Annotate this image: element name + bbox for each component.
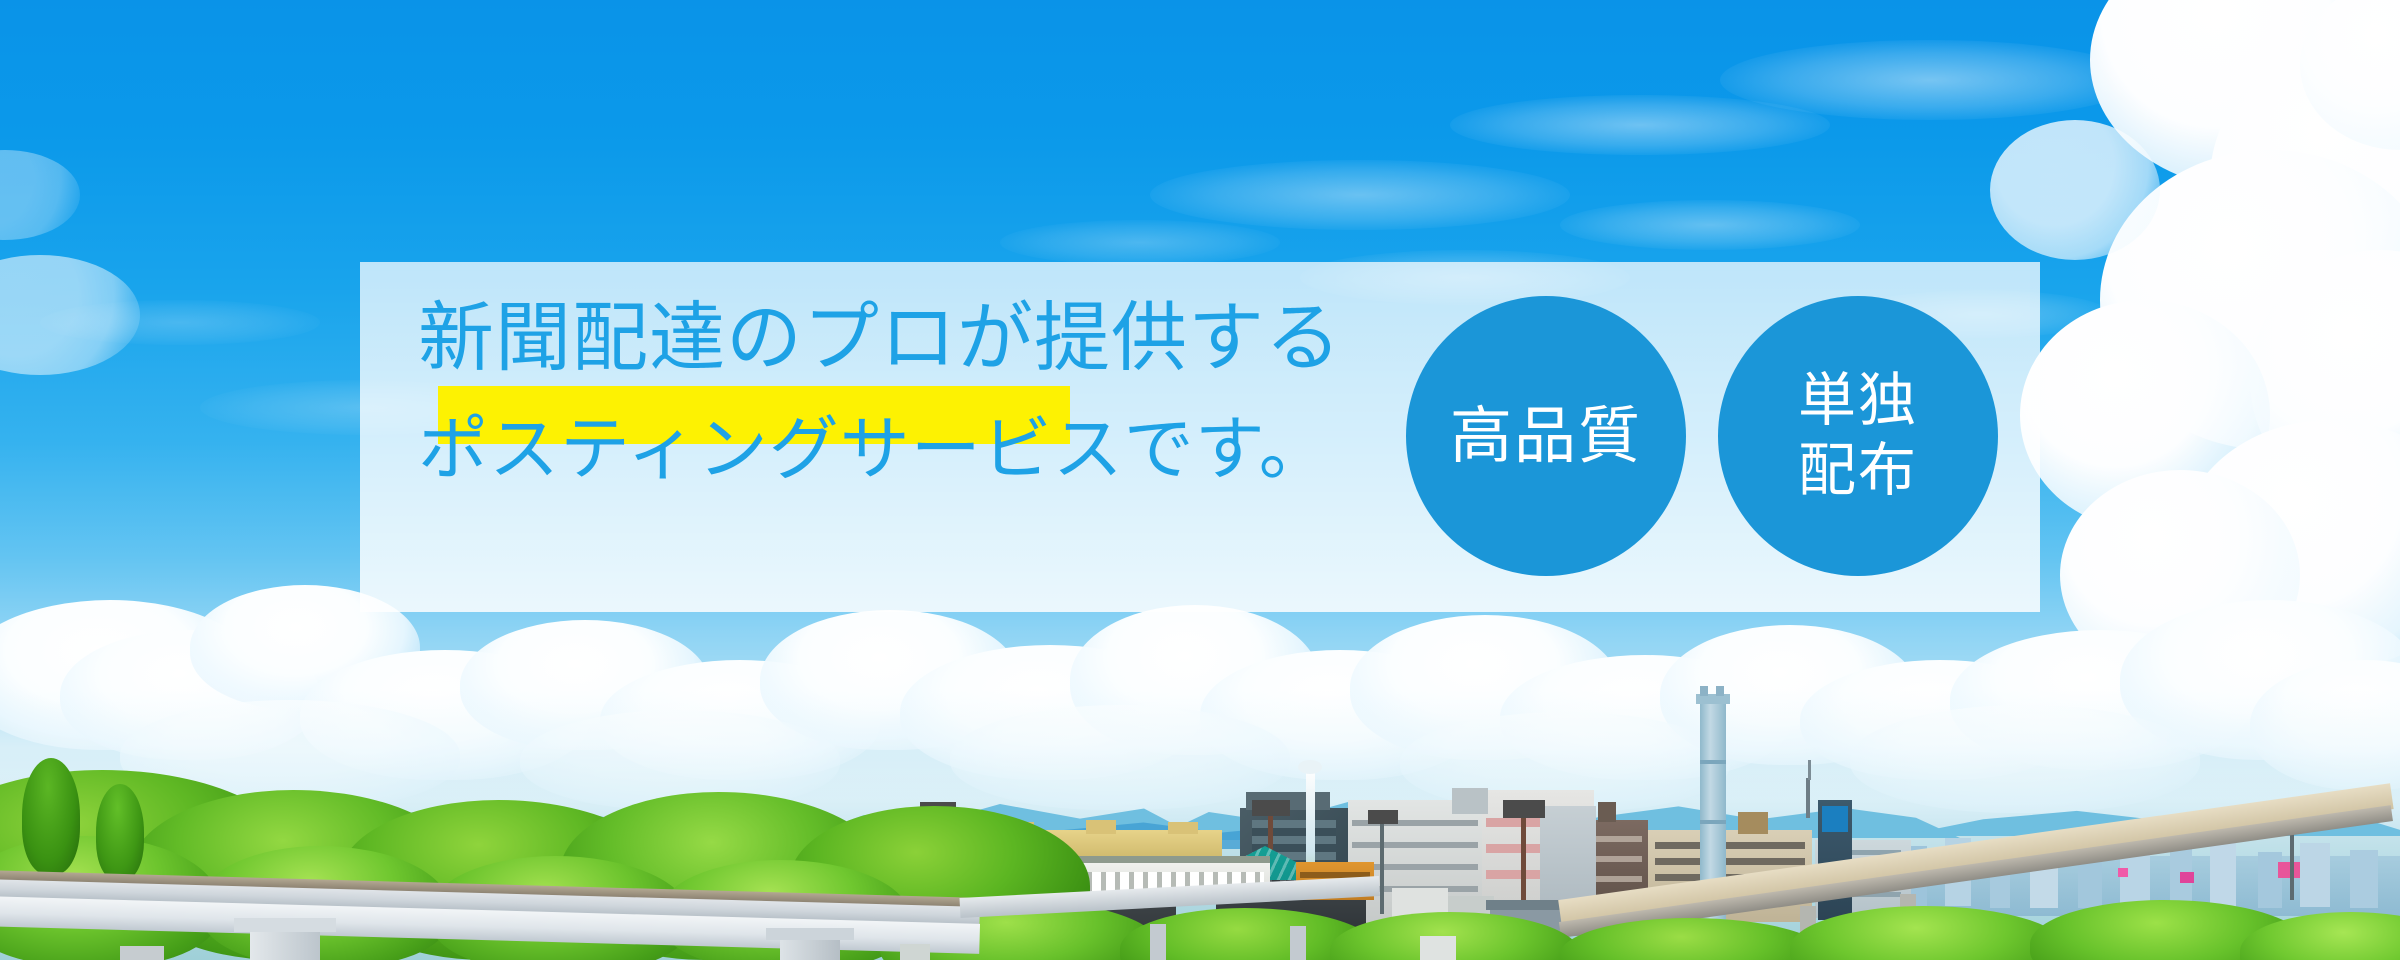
- badge-exclusive-distribution[interactable]: 単独 配布: [1718, 296, 1998, 576]
- badge-high-quality-label: 高品質: [1450, 401, 1642, 470]
- badge-exclusive-distribution-line-1: 単独: [1798, 366, 1918, 436]
- hero-content-panel: 新聞配達のプロが提供する ポスティングサービスです。 高品質 単独 配布: [360, 262, 2040, 612]
- headline-block: 新聞配達のプロが提供する ポスティングサービスです。: [418, 300, 1418, 484]
- headline-line-1-text: 新聞配達のプロが提供する: [418, 293, 1342, 382]
- badge-group: 高品質 単独 配布: [1406, 296, 1998, 576]
- badge-exclusive-distribution-line-2: 配布: [1798, 436, 1918, 506]
- headline-line-1: 新聞配達のプロが提供する: [418, 300, 1418, 376]
- badge-high-quality[interactable]: 高品質: [1406, 296, 1686, 576]
- headline-line-2: ポスティングサービスです。: [418, 414, 1418, 484]
- hero-banner: 新聞配達のプロが提供する ポスティングサービスです。 高品質 単独 配布: [0, 0, 2400, 960]
